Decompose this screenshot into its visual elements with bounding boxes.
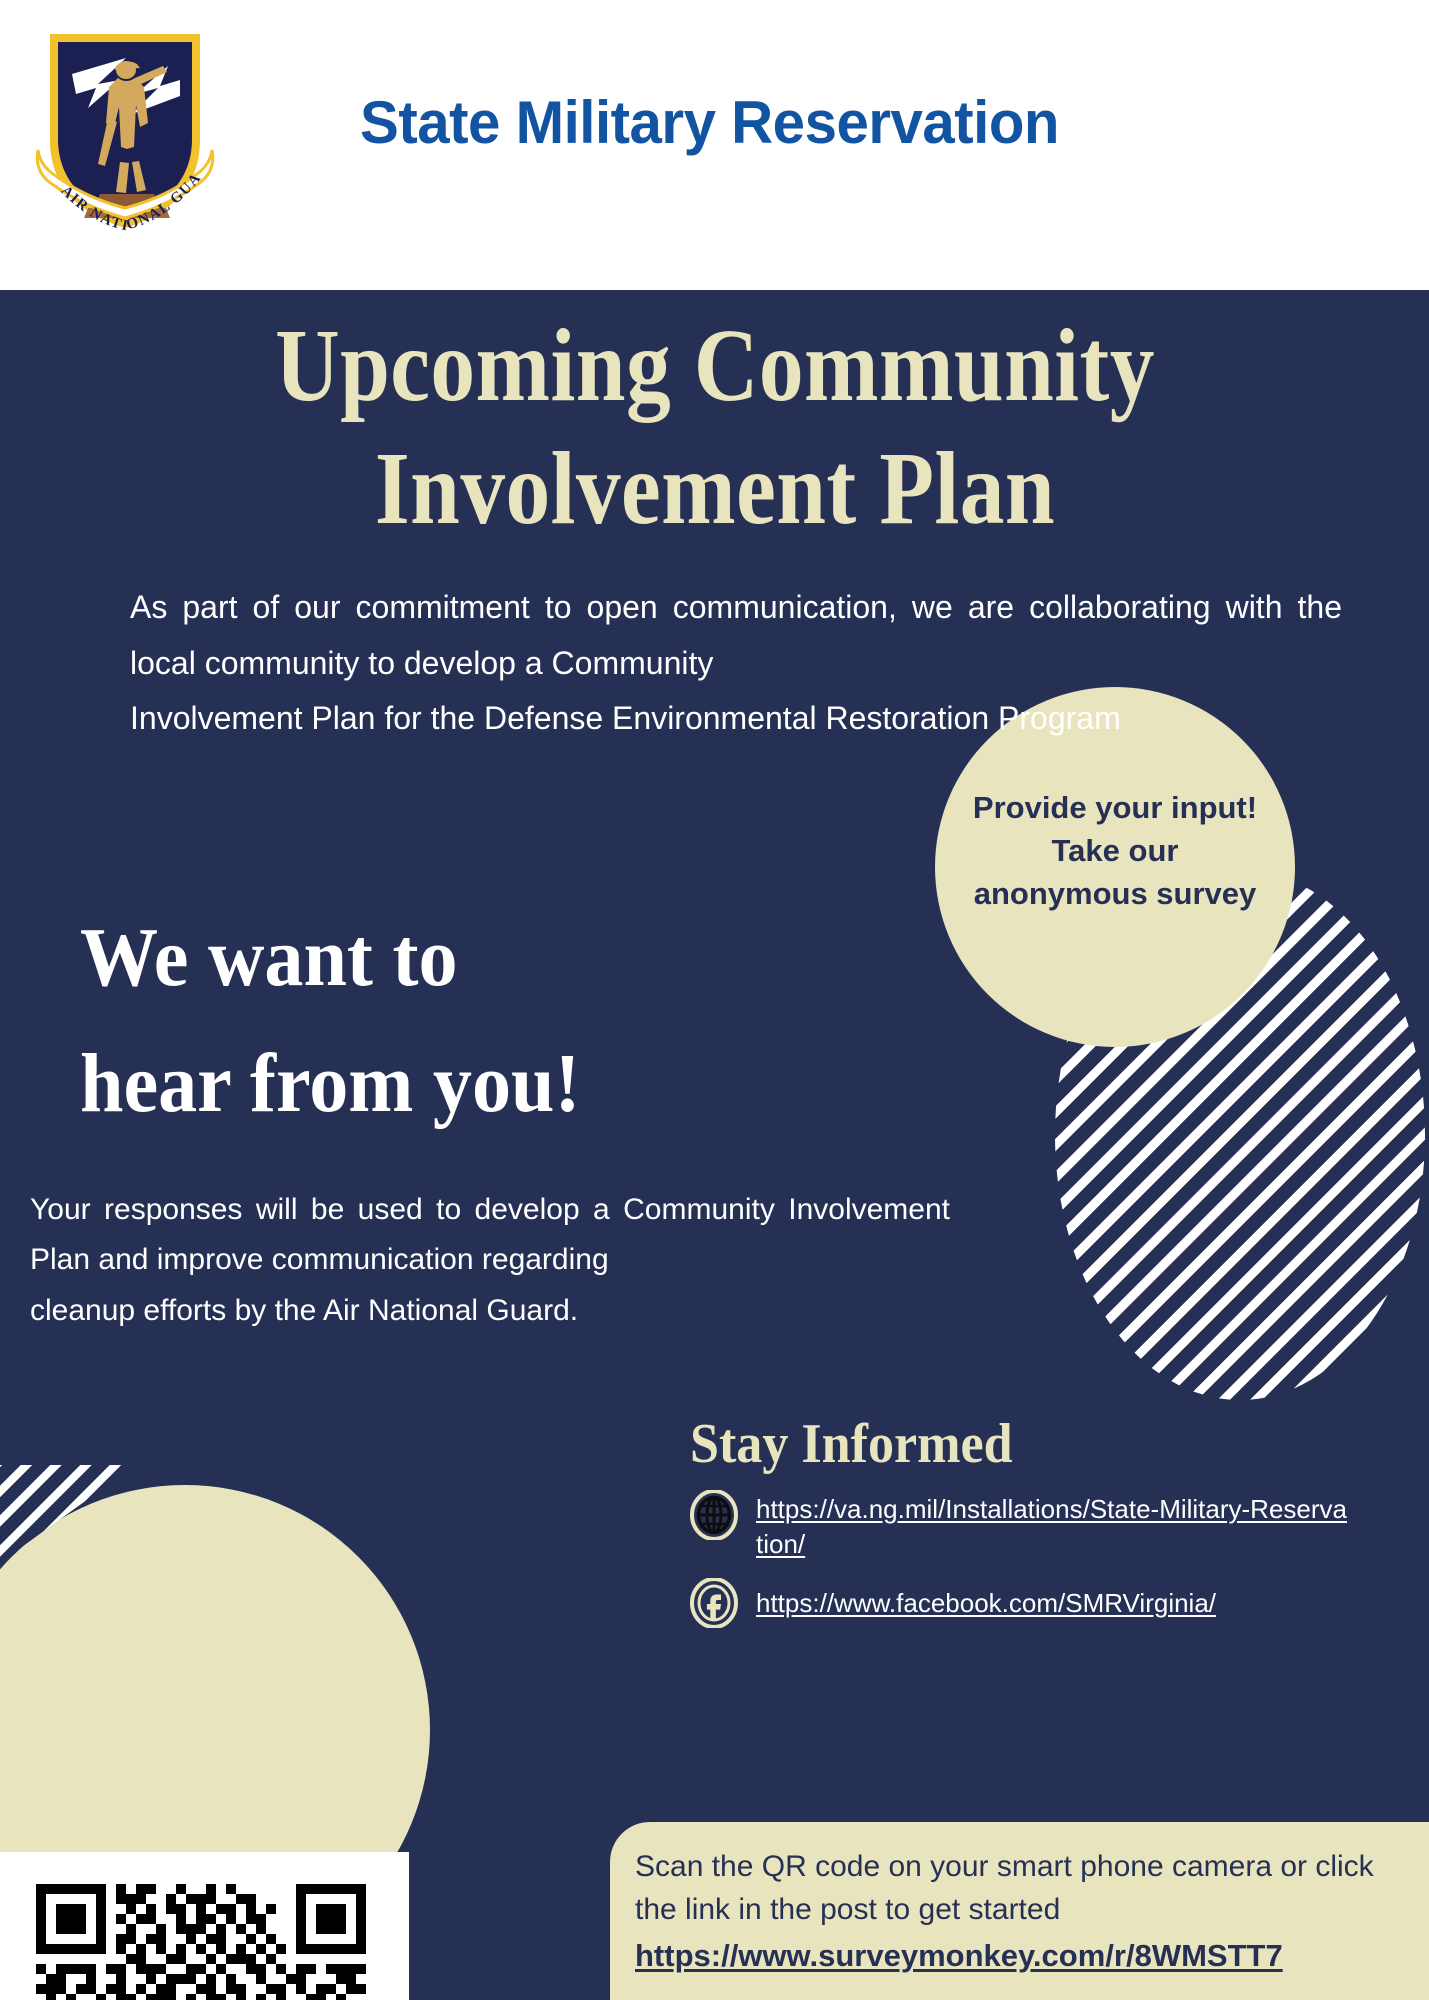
organization-title: State Military Reservation bbox=[360, 88, 1059, 157]
intro-paragraph-last-line: Involvement Plan for the Defense Environ… bbox=[130, 691, 1342, 747]
responses-paragraph-main: Your responses will be used to develop a… bbox=[30, 1193, 950, 1276]
callout-line-1: Provide your input! bbox=[935, 787, 1295, 830]
stay-informed-heading: Stay Informed bbox=[690, 1412, 1013, 1476]
page-title: Upcoming Community Involvement Plan bbox=[195, 305, 1236, 550]
qr-code-card bbox=[0, 1852, 409, 2000]
survey-link[interactable]: https://www.surveymonkey.com/r/8WMSTT7 bbox=[635, 1938, 1283, 1974]
scan-instruction-text: Scan the QR code on your smart phone cam… bbox=[635, 1846, 1405, 1931]
intro-paragraph-main: As part of our commitment to open commun… bbox=[130, 589, 1342, 681]
intro-paragraph: As part of our commitment to open commun… bbox=[130, 580, 1342, 747]
header-band: AIR NATIONAL GUARD State Military Reserv… bbox=[0, 0, 1429, 290]
headline-line-2: Involvement Plan bbox=[195, 428, 1236, 551]
air-national-guard-emblem-icon: AIR NATIONAL GUARD bbox=[30, 22, 220, 237]
hear-from-you-heading: We want to hear from you! bbox=[80, 895, 805, 1147]
callout-line-2: Take our bbox=[935, 830, 1295, 873]
website-link[interactable]: https://va.ng.mil/Installations/State-Mi… bbox=[756, 1490, 1350, 1562]
hear-heading-line-2: hear from you! bbox=[80, 1021, 805, 1147]
facebook-link[interactable]: https://www.facebook.com/SMRVirginia/ bbox=[756, 1578, 1216, 1621]
callout-circle-text: Provide your input! Take our anonymous s… bbox=[935, 787, 1295, 915]
hear-heading-line-1: We want to bbox=[80, 895, 805, 1021]
scan-instruction-card: Scan the QR code on your smart phone cam… bbox=[610, 1822, 1429, 2000]
headline-line-1: Upcoming Community bbox=[195, 305, 1236, 428]
poster-body: Provide your input! Take our anonymous s… bbox=[0, 290, 1429, 2000]
link-row-facebook[interactable]: https://www.facebook.com/SMRVirginia/ bbox=[690, 1578, 1350, 1628]
facebook-icon bbox=[690, 1578, 738, 1628]
poster-root: Provide your input! Take our anonymous s… bbox=[0, 0, 1429, 2000]
survey-qr-code[interactable] bbox=[36, 1884, 366, 2000]
responses-paragraph: Your responses will be used to develop a… bbox=[30, 1185, 950, 1336]
callout-line-3: anonymous survey bbox=[935, 873, 1295, 916]
globe-icon bbox=[690, 1490, 738, 1540]
responses-paragraph-last-line: cleanup efforts by the Air National Guar… bbox=[30, 1286, 950, 1336]
link-row-website[interactable]: https://va.ng.mil/Installations/State-Mi… bbox=[690, 1490, 1350, 1562]
